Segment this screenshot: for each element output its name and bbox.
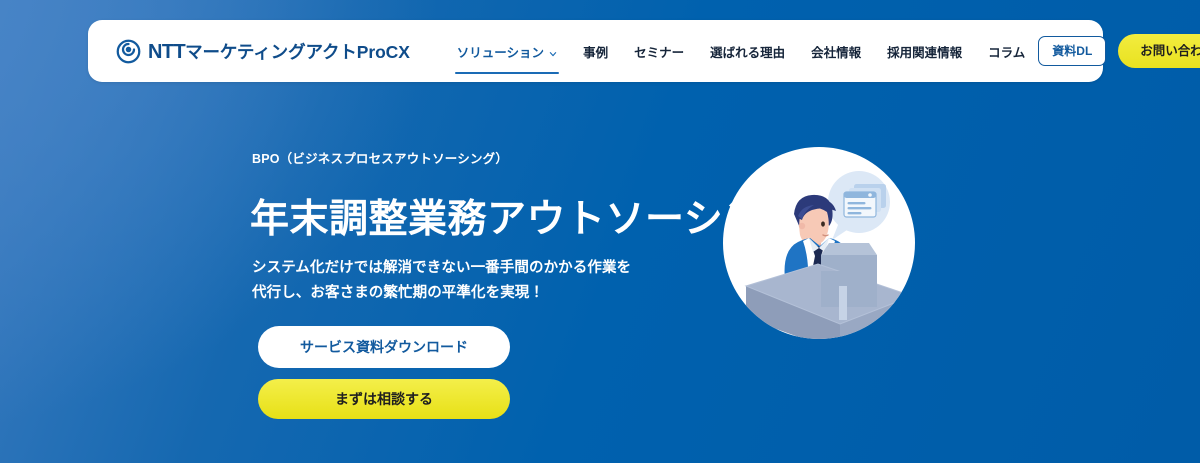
page-title: 年末調整業務アウトソーシング: [250, 198, 802, 243]
hero-eyebrow: BPO（ビジネスプロセスアウトソーシング）: [252, 148, 508, 167]
hero-description-line-1: システム化だけでは解消できない一番手間のかかる作業を: [252, 256, 631, 281]
hero-section: BPO（ビジネスプロセスアウトソーシング） 年末調整業務アウトソーシング システ…: [0, 0, 1200, 463]
hero-description-line-2: 代行し、お客さまの繁忙期の平準化を実現！: [252, 281, 631, 306]
consult-first-button[interactable]: まずは相談する: [258, 379, 510, 419]
service-document-download-button[interactable]: サービス資料ダウンロード: [258, 326, 510, 368]
page-root: NTTマーケティングアクトProCX ソリューション 事例 セミナー 選ばれる理…: [0, 0, 1200, 463]
hero-illustration: [722, 146, 916, 340]
hero-description: システム化だけでは解消できない一番手間のかかる作業を 代行し、お客さまの繁忙期の…: [252, 256, 631, 306]
